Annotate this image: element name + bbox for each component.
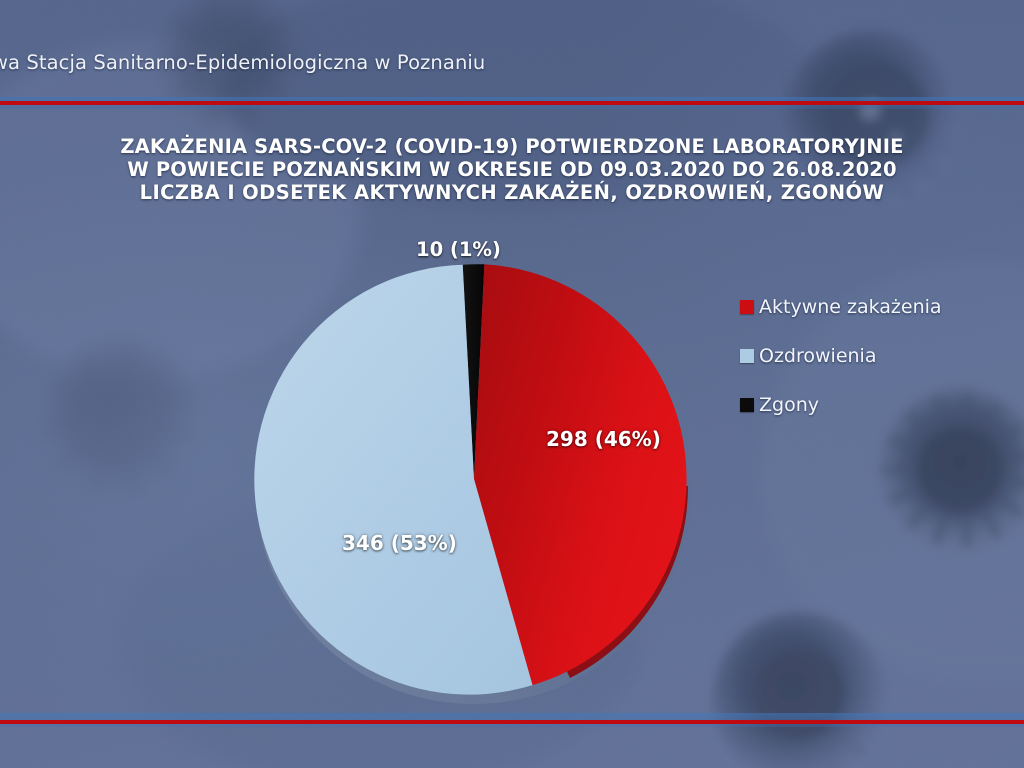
legend-item-active[interactable]: Aktywne zakażenia xyxy=(740,297,970,317)
pie-chart-svg xyxy=(252,256,704,708)
legend-item-deaths[interactable]: Zgony xyxy=(740,395,970,415)
legend-label-deaths: Zgony xyxy=(759,394,819,416)
divider-red-line xyxy=(0,101,1024,105)
pie-label-active: 298 (46%) xyxy=(546,427,661,451)
slide-canvas: wa Stacja Sanitarno-Epidemiologiczna w P… xyxy=(0,0,1024,768)
legend-label-active: Aktywne zakażenia xyxy=(759,296,942,318)
divider-top xyxy=(0,97,1024,105)
legend-swatch-deaths-icon xyxy=(740,398,754,412)
chart-title-line-1: ZAKAŻENIA SARS-COV-2 (COVID-19) POTWIERD… xyxy=(0,135,1024,158)
legend-label-recovered: Ozdrowienia xyxy=(759,345,876,367)
legend-item-recovered[interactable]: Ozdrowienia xyxy=(740,346,970,366)
organization-header: wa Stacja Sanitarno-Epidemiologiczna w P… xyxy=(0,46,1024,80)
pie-chart: 10 (1%) 298 (46%) 346 (53%) xyxy=(252,256,704,708)
divider-red-line-bottom xyxy=(0,720,1024,724)
pie-label-recovered: 346 (53%) xyxy=(342,531,457,555)
chart-title: ZAKAŻENIA SARS-COV-2 (COVID-19) POTWIERD… xyxy=(0,135,1024,204)
chart-title-line-3: LICZBA I ODSETEK AKTYWNYCH ZAKAŻEŃ, OZDR… xyxy=(0,181,1024,204)
legend-swatch-active-icon xyxy=(740,300,754,314)
legend-swatch-recovered-icon xyxy=(740,349,754,363)
chart-title-line-2: W POWIECIE POZNAŃSKIM W OKRESIE OD 09.03… xyxy=(0,158,1024,181)
chart-legend: Aktywne zakażenia Ozdrowienia Zgony xyxy=(740,297,970,444)
pie-label-deaths: 10 (1%) xyxy=(416,238,501,261)
divider-bottom xyxy=(0,713,1024,724)
